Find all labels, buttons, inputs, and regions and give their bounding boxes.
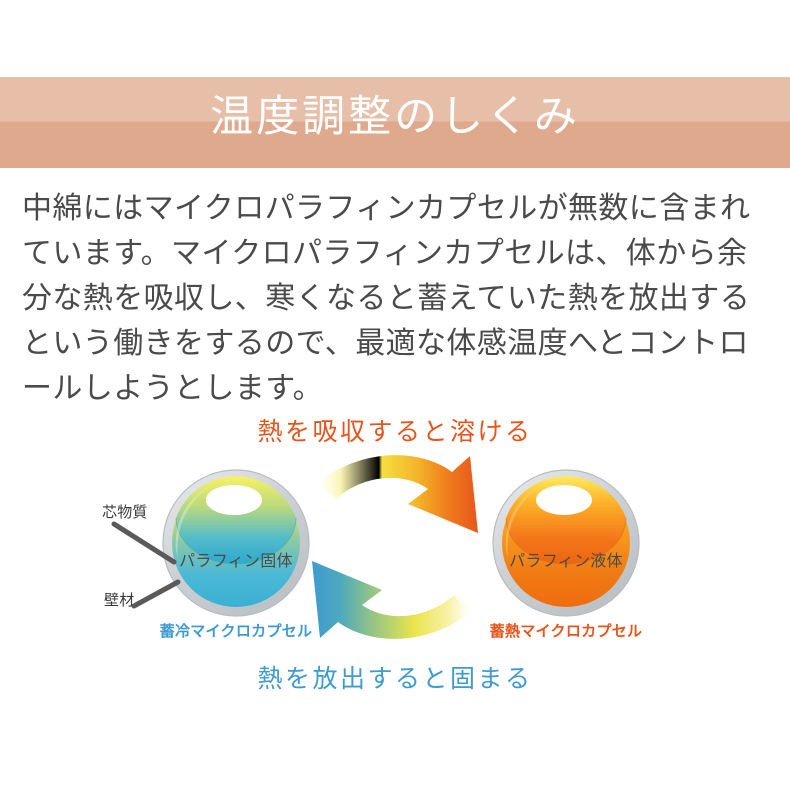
cold-capsule-inner-text: パラフィン固体 <box>166 552 306 572</box>
wall-leader-line <box>134 582 178 606</box>
label-core-material: 芯物質 <box>102 503 148 522</box>
diagram-heading-release: 熱を放出すると固まる <box>0 662 790 696</box>
infographic-page: 温度調整のしくみ 中綿にはマイクロパラフィンカプセルが無数に含まれています。マイ… <box>0 0 790 790</box>
heat-capsule-icon <box>493 470 639 616</box>
absorb-arrow-icon <box>318 455 478 533</box>
page-title: 温度調整のしくみ <box>0 86 790 148</box>
cold-capsule-icon <box>163 470 309 616</box>
cold-capsule-caption: 蓄冷マイクロカプセル <box>136 622 336 642</box>
label-wall-material: 壁材 <box>104 591 134 610</box>
release-arrow-icon <box>312 561 472 639</box>
heat-capsule-inner-text: パラフィン液体 <box>496 552 636 572</box>
heat-capsule-caption: 蓄熱マイクロカプセル <box>466 622 666 642</box>
mechanism-diagram: 熱を吸収すると溶ける <box>0 400 790 720</box>
body-paragraph: 中綿にはマイクロパラフィンカプセルが無数に含まれています。マイクロパラフィンカプ… <box>22 186 770 411</box>
